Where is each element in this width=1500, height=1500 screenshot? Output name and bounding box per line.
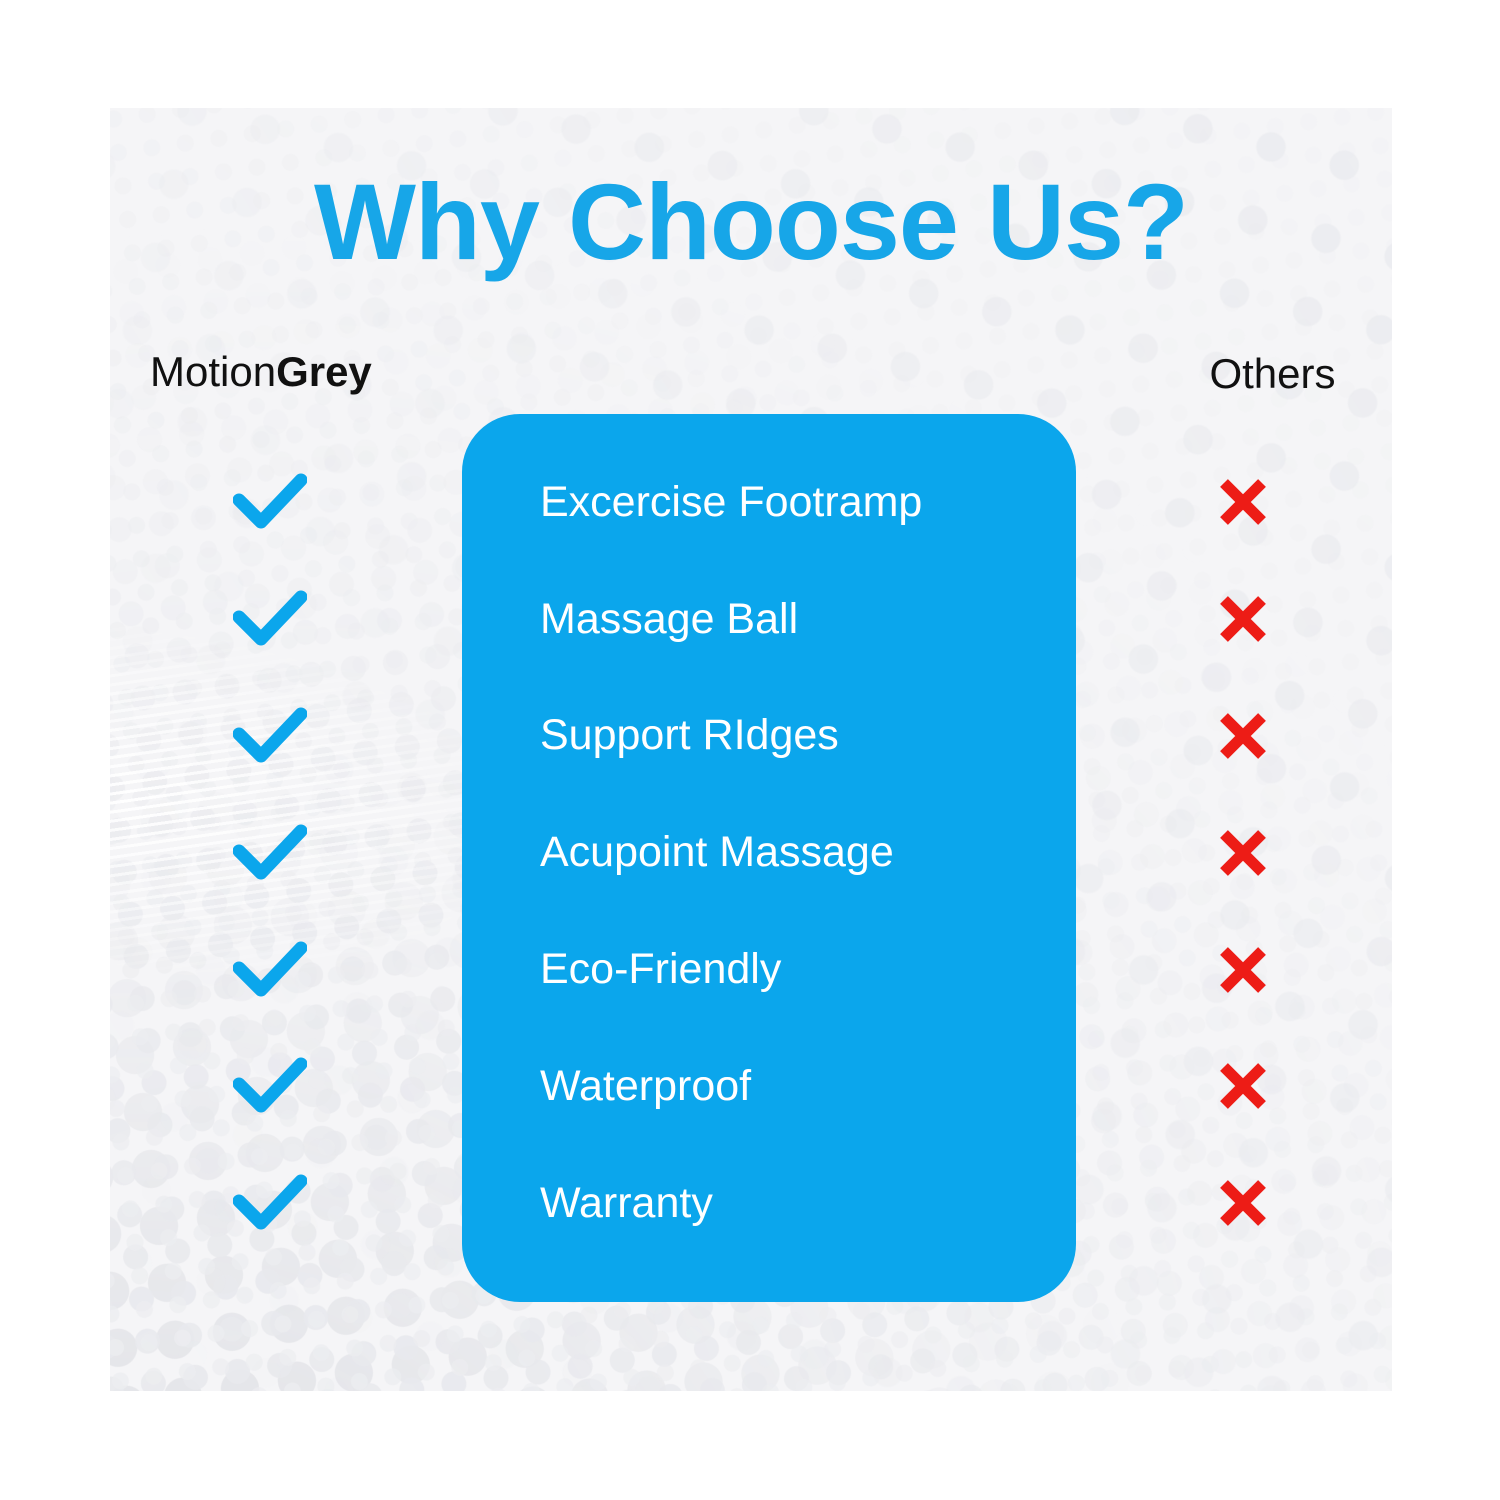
comparison-row: Warranty [110,1145,1392,1262]
comparison-row: Acupoint Massage [110,794,1392,911]
check-icon [222,678,318,795]
feature-label: Support RIdges [540,678,1060,795]
comparison-row: Eco-Friendly [110,911,1392,1028]
feature-label: Excercise Footramp [540,444,1060,561]
comparison-row: Excercise Footramp [110,444,1392,561]
comparison-row: Massage Ball [110,561,1392,678]
comparison-rows: Excercise FootrampMassage BallSupport RI… [110,444,1392,1274]
feature-label: Massage Ball [540,561,1060,678]
comparison-infographic: Why Choose Us? MotionGrey Others Excerci… [0,0,1500,1500]
others-column-header: Others [1180,353,1365,395]
cross-icon [1195,561,1291,678]
check-icon [222,561,318,678]
cross-icon [1195,794,1291,911]
cross-icon [1195,678,1291,795]
check-icon [222,794,318,911]
feature-label: Acupoint Massage [540,794,1060,911]
feature-label: Waterproof [540,1028,1060,1145]
cross-icon [1195,1028,1291,1145]
content-canvas: Why Choose Us? MotionGrey Others Excerci… [110,108,1392,1391]
feature-label: Warranty [540,1145,1060,1262]
page-title: Why Choose Us? [110,168,1392,276]
check-icon [222,1145,318,1262]
brand-name-light: Motion [150,348,276,395]
check-icon [222,911,318,1028]
check-icon [222,1028,318,1145]
check-icon [222,444,318,561]
cross-icon [1195,444,1291,561]
comparison-row: Support RIdges [110,678,1392,795]
brand-name-bold: Grey [276,348,372,395]
comparison-row: Waterproof [110,1028,1392,1145]
cross-icon [1195,1145,1291,1262]
cross-icon [1195,911,1291,1028]
feature-label: Eco-Friendly [540,911,1060,1028]
brand-column-header: MotionGrey [150,351,372,393]
